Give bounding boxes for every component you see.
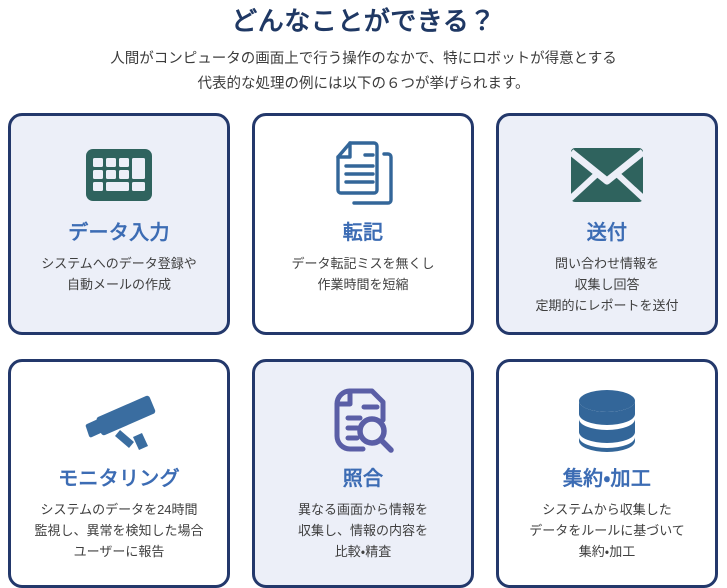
keyboard-icon bbox=[86, 132, 152, 218]
card-title: モニタリング bbox=[58, 466, 180, 492]
capability-card-sending[interactable]: 送付 問い合わせ情報を 収集し回答 定期的にレポートを送付 bbox=[496, 113, 718, 335]
documents-copy-icon bbox=[332, 132, 394, 218]
card-title: データ入力 bbox=[68, 220, 170, 246]
page-subtitle: 人間がコンピュータの画面上で行う操作のなかで、特にロボットが得意とする 代表的な… bbox=[0, 47, 727, 97]
capability-card-transcription[interactable]: 転記 データ転記ミスを無くし 作業時間を短縮 bbox=[252, 113, 474, 335]
capabilities-page: どんなことができる？ 人間がコンピュータの画面上で行う操作のなかで、特にロボット… bbox=[0, 0, 727, 566]
card-description: システムのデータを24時間 監視し、異常を検知した場合 ユーザーに報告 bbox=[34, 499, 203, 562]
desc-line: 集約・加工 bbox=[529, 541, 685, 562]
subtitle-line-2: 代表的な処理の例には以下の６つが挙げられます。 bbox=[0, 72, 727, 97]
card-title: 照合 bbox=[343, 466, 384, 492]
desc-line: システムへのデータ登録や bbox=[41, 253, 197, 274]
card-description: システムから収集した データをルールに基づいて 集約・加工 bbox=[529, 499, 685, 562]
security-camera-icon bbox=[76, 378, 162, 464]
desc-line: 問い合わせ情報を bbox=[535, 253, 678, 274]
subtitle-line-1: 人間がコンピュータの画面上で行う操作のなかで、特にロボットが得意とする bbox=[0, 47, 727, 72]
card-title: 転記 bbox=[343, 220, 384, 246]
desc-line: システムから収集した bbox=[529, 499, 685, 520]
card-description: システムへのデータ登録や 自動メールの作成 bbox=[41, 253, 197, 295]
card-title: 集約・加工 bbox=[563, 466, 651, 492]
desc-line: 比較・精査 bbox=[298, 541, 428, 562]
card-description: 異なる画面から情報を 収集し、情報の内容を 比較・精査 bbox=[298, 499, 428, 562]
capability-card-monitoring[interactable]: モニタリング システムのデータを24時間 監視し、異常を検知した場合 ユーザーに… bbox=[8, 359, 230, 588]
card-title: 送付 bbox=[587, 220, 628, 246]
desc-line: 自動メールの作成 bbox=[41, 274, 197, 295]
database-icon bbox=[576, 378, 638, 464]
desc-line: 異なる画面から情報を bbox=[298, 499, 428, 520]
desc-line: システムのデータを24時間 bbox=[34, 499, 203, 520]
desc-line: ユーザーに報告 bbox=[34, 541, 203, 562]
card-description: 問い合わせ情報を 収集し回答 定期的にレポートを送付 bbox=[535, 253, 678, 316]
card-description: データ転記ミスを無くし 作業時間を短縮 bbox=[291, 253, 434, 295]
desc-line: 収集し回答 bbox=[535, 274, 678, 295]
capability-card-matching[interactable]: 照合 異なる画面から情報を 収集し、情報の内容を 比較・精査 bbox=[252, 359, 474, 588]
capability-card-data-entry[interactable]: データ入力 システムへのデータ登録や 自動メールの作成 bbox=[8, 113, 230, 335]
document-search-icon bbox=[331, 378, 395, 464]
desc-line: 作業時間を短縮 bbox=[291, 274, 434, 295]
desc-line: データ転記ミスを無くし bbox=[291, 253, 434, 274]
page-header: どんなことができる？ 人間がコンピュータの画面上で行う操作のなかで、特にロボット… bbox=[0, 0, 727, 97]
desc-line: 収集し、情報の内容を bbox=[298, 520, 428, 541]
desc-line: データをルールに基づいて bbox=[529, 520, 685, 541]
envelope-icon bbox=[571, 132, 643, 218]
desc-line: 監視し、異常を検知した場合 bbox=[34, 520, 203, 541]
page-title: どんなことができる？ bbox=[0, 4, 727, 38]
capability-card-grid: データ入力 システムへのデータ登録や 自動メールの作成 bbox=[8, 113, 719, 588]
desc-line: 定期的にレポートを送付 bbox=[535, 295, 678, 316]
capability-card-aggregation[interactable]: 集約・加工 システムから収集した データをルールに基づいて 集約・加工 bbox=[496, 359, 718, 588]
